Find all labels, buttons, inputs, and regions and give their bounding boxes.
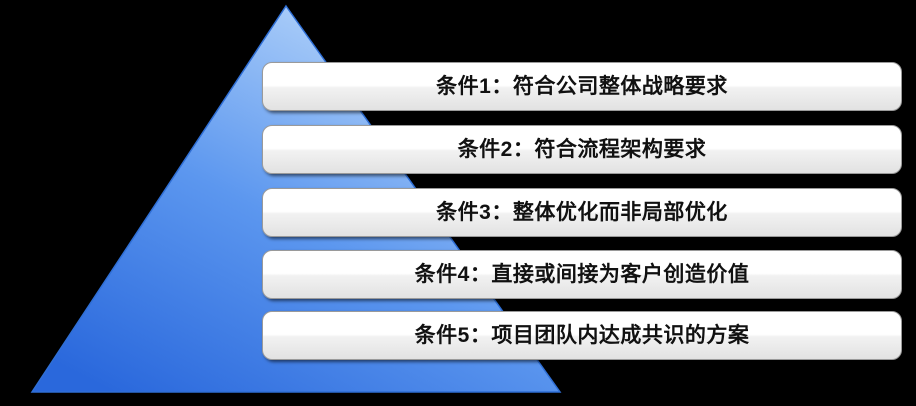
pyramid-bar-5-label: 条件5：项目团队内达成共识的方案 xyxy=(415,325,750,346)
pyramid-bar-2-label: 条件2：符合流程架构要求 xyxy=(458,139,707,160)
pyramid-bar-4-label: 条件4：直接或间接为客户创造价值 xyxy=(415,264,750,285)
pyramid-bar-3-label: 条件3：整体优化而非局部优化 xyxy=(436,202,728,223)
pyramid-bar-3: 条件3：整体优化而非局部优化 xyxy=(262,188,902,237)
pyramid-bar-1: 条件1：符合公司整体战略要求 xyxy=(262,62,902,111)
pyramid-bar-5: 条件5：项目团队内达成共识的方案 xyxy=(262,311,902,360)
pyramid-bar-4: 条件4：直接或间接为客户创造价值 xyxy=(262,250,902,299)
pyramid-bar-2: 条件2：符合流程架构要求 xyxy=(262,125,902,174)
pyramid-diagram: 条件1：符合公司整体战略要求 条件2：符合流程架构要求 条件3：整体优化而非局部… xyxy=(0,0,916,406)
pyramid-bar-1-label: 条件1：符合公司整体战略要求 xyxy=(436,76,728,97)
